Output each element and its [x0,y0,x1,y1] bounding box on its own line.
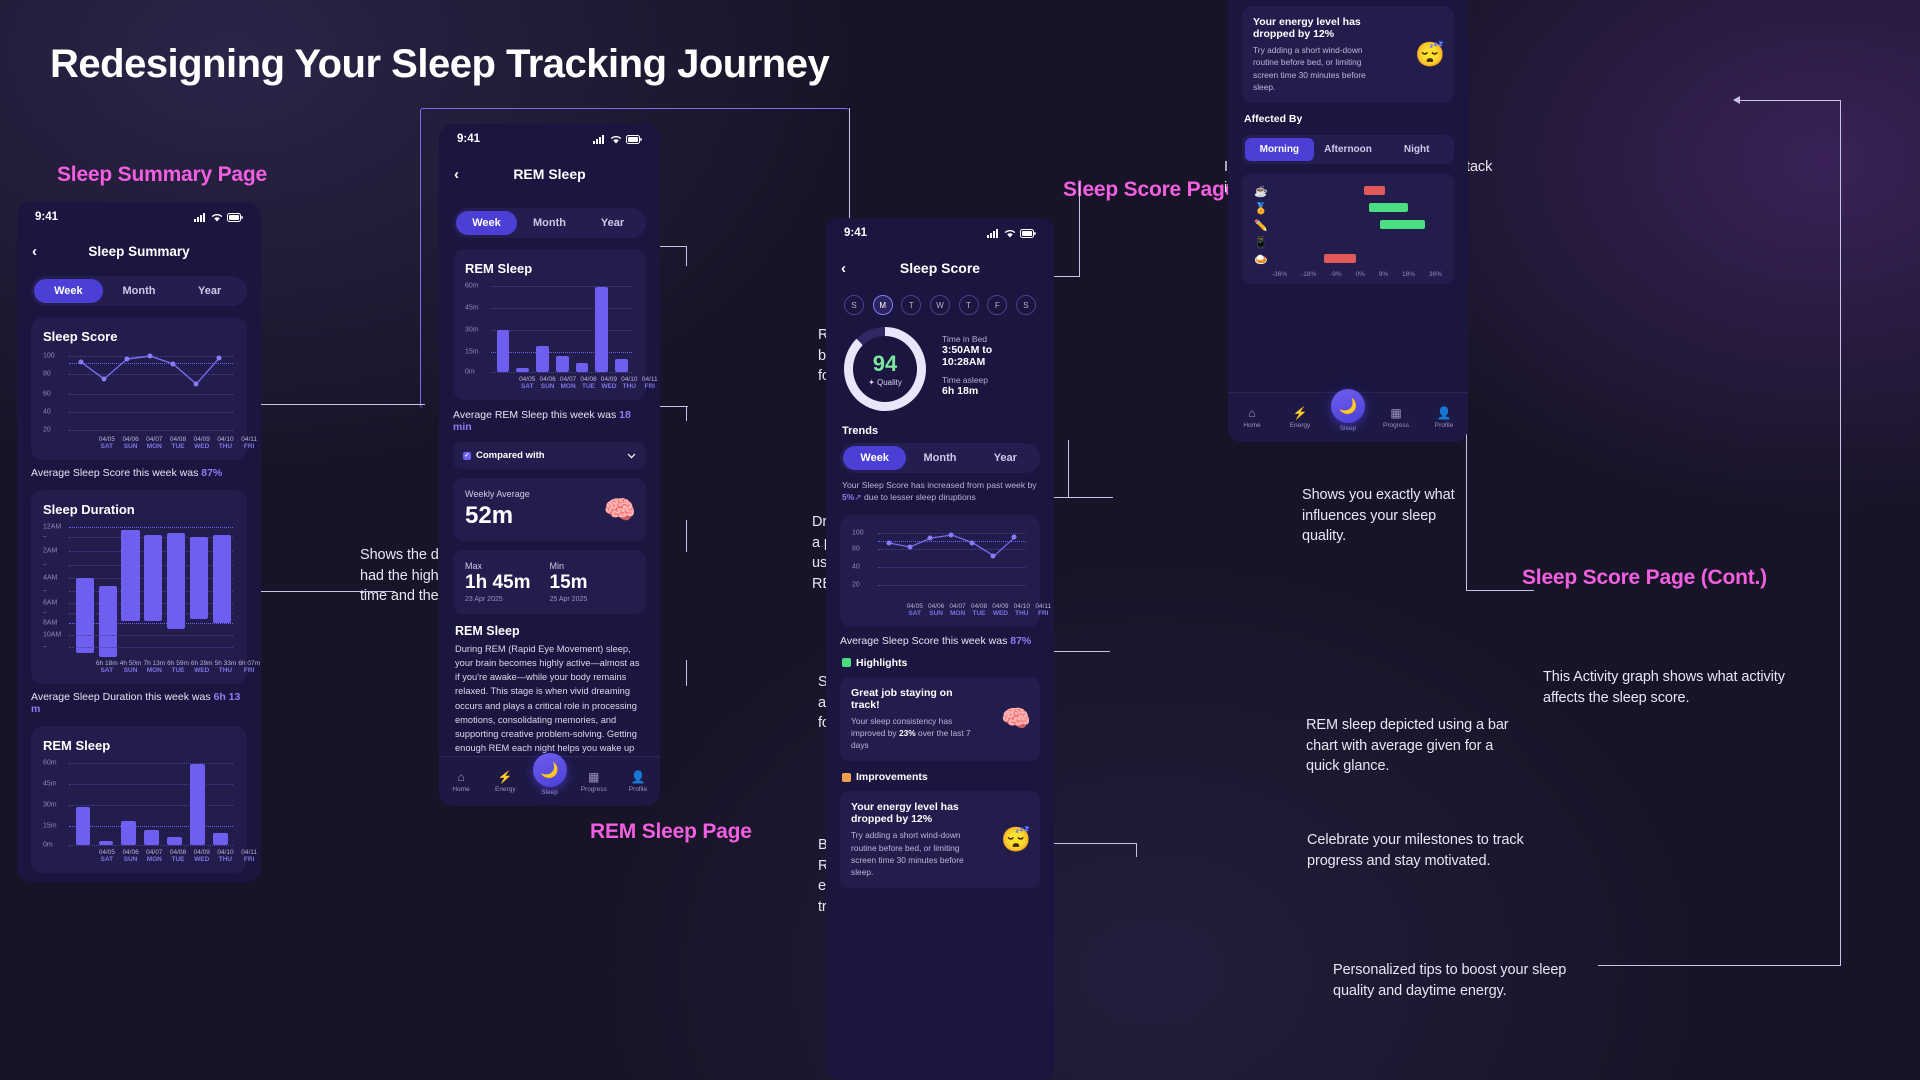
score-summary-row: 94 ✦ Quality Time in Bed 3:50AM to 10:28… [826,315,1054,415]
average-rem-sleep-text: Average REM Sleep this week was 18 min [17,873,261,882]
tab-month[interactable]: Month [519,211,580,235]
phone-sleep-score: 9:41 ‹ Sleep Score S M T W T F S 94 ✦ [826,218,1054,1080]
annotation-rem-bar-avg: REM sleep depicted using a bar chart wit… [1306,715,1521,777]
tab-profile[interactable]: 👤Profile [1420,406,1468,429]
connector-line [686,406,687,421]
time-in-bed-value: 3:50AM to 10:28AM [942,344,1036,368]
trends-segmented-control[interactable]: Week Month Year [840,443,1040,473]
annotation-personalized-tips: Personalized tips to boost your sleep qu… [1333,960,1593,1001]
weekday-selector[interactable]: S M T W T F S [826,288,1054,315]
highlight-title: Great job staying on track! [851,687,979,711]
min-date: 25 Apr 2025 [550,596,635,603]
card-improvement: Your energy level has dropped by 12% Try… [1242,6,1454,103]
rem-description-title: REM Sleep [455,624,644,638]
status-icons [987,229,1036,238]
coffee-icon: ☕ [1250,185,1272,198]
connector-line [1466,590,1534,591]
min-value: 15m [550,572,635,594]
x-axis-labels: 04/05SAT 04/06SUN 04/07MON 04/08TUE 04/0… [95,436,261,450]
phone-sleep-score-cont: the last 7 days Improvements Your energy… [1228,0,1468,442]
day-dot-t1[interactable]: T [901,295,921,315]
improvement-text: Try adding a short wind-down routine bef… [1253,44,1386,93]
chart-icon: ▦ [1372,406,1420,420]
wifi-icon [610,135,622,144]
connector-line [1079,183,1080,276]
tab-sleep[interactable]: 🌙 Sleep [527,767,571,796]
tab-energy[interactable]: ⚡Energy [483,770,527,793]
chart-score-trend-line: 100 80 40 20 [852,527,1028,601]
card-rem-sleep: REM Sleep 60m 45m 30m 15m 0m 04/05SA [31,726,247,873]
tab-morning[interactable]: Morning [1245,138,1314,161]
label-sleep-score-page-cont: Sleep Score Page (Cont.) [1522,566,1767,590]
connector-line [686,520,687,552]
activity-row: 📱 [1250,234,1446,251]
highlights-header: Highlights [826,647,1054,671]
card-title: Sleep Duration [43,502,235,517]
improvement-title: Your energy level has dropped by 12% [1253,16,1390,40]
highlights-icon [842,658,851,667]
status-bar: 9:41 [439,124,660,154]
card-weekly-average: Weekly Average 52m 🧠 [453,478,646,541]
connector-arrow [1733,96,1740,104]
card-title: REM Sleep [465,261,634,276]
score-ring: 94 ✦ Quality [844,327,926,411]
chart-activity-impact: ☕ 🏅 ✏️ 📱 🍛 -36%-18%-9%0%9%18%36% [1242,173,1454,284]
connector-line [1136,843,1137,857]
card-improvement: Your energy level has dropped by 12% Try… [840,791,1040,888]
bolt-icon: ⚡ [483,770,527,784]
poster-canvas: Redesigning Your Sleep Tracking Journey … [0,0,1920,1080]
affected-by-header: Affected By [1228,103,1468,127]
nav-bar: ‹ REM Sleep [439,154,660,194]
card-title: REM Sleep [43,738,235,753]
activity-row: 🍛 [1250,251,1446,268]
phone-icon: 📱 [1250,236,1272,249]
time-asleep-label: Time asleep [942,375,1036,385]
average-sleep-duration-text: Average Sleep Duration this week was 6h … [17,684,261,715]
card-max-min: Max 1h 45m 23 Apr 2025 Min 15m 25 Apr 20… [453,550,646,614]
tab-month[interactable]: Month [105,279,174,303]
signal-icon [593,135,606,144]
moon-icon[interactable]: 🌙 [533,753,567,787]
label-sleep-score-page: Sleep Score Page [1063,178,1236,202]
bottom-tab-bar[interactable]: ⌂Home ⚡Energy 🌙 Sleep ▦Progress 👤Profile [439,756,660,806]
signal-icon [194,213,207,222]
person-icon: 👤 [1420,406,1468,420]
tab-year[interactable]: Year [582,211,643,235]
score-quality-label: ✦ Quality [868,378,902,387]
card-trend-chart: 100 80 40 20 04 [840,515,1040,627]
brain-emoji: 🧠 [604,494,636,525]
tab-week[interactable]: Week [34,279,103,303]
chart-sleep-duration-bars: 12AM – 2AM – 4AM – 6AM – 8AM [43,523,235,631]
bottom-tab-bar[interactable]: ⌂Home ⚡Energy 🌙 Sleep ▦Progress 👤Profile [1228,392,1468,442]
time-asleep-value: 6h 18m [942,385,1036,397]
improvements-icon [842,773,851,782]
x-axis-labels: 04/05SAT 04/06SUN 04/07MON 04/08TUE 04/0… [517,376,660,390]
average-sleep-score-text: Average Sleep Score this week was 87% [826,627,1054,647]
chart-rem-sleep-bars: 60m 45m 30m 15m 0m [465,282,634,374]
bar-plot-area [69,523,233,631]
card-sleep-score: Sleep Score 100 80 60 40 20 [31,317,247,460]
home-icon: ⌂ [1228,406,1276,420]
status-icons [194,213,243,222]
x-axis-labels: 6h 18mSAT 4h 50mSUN 7h 13mMON 6h 59mTUE … [95,660,261,674]
checkbox-checked-icon[interactable]: ✓ [463,452,471,460]
sleepy-emoji: 😴 [1001,825,1031,854]
annotation-activity-graph: This Activity graph shows what activity … [1543,667,1793,708]
battery-icon [626,135,642,144]
improvement-text: Try adding a short wind-down routine bef… [851,829,976,878]
back-button[interactable]: ‹ [32,243,37,260]
tab-profile[interactable]: 👤Profile [616,770,660,793]
party-brain-emoji: 🧠 [1001,705,1031,734]
compared-with-dropdown[interactable]: ✓ Compared with [453,442,646,469]
activity-x-axis: -36%-18%-9%0%9%18%36% [1250,268,1446,278]
status-time: 9:41 [35,211,58,223]
chart-icon: ▦ [572,770,616,784]
connector-line [260,404,425,405]
activity-row: ☕ [1250,183,1446,200]
tab-week[interactable]: Week [456,211,517,235]
status-time: 9:41 [457,133,480,145]
day-dot-t2[interactable]: T [959,295,979,315]
label-sleep-summary-page: Sleep Summary Page [57,163,267,187]
tab-home[interactable]: ⌂Home [1228,406,1276,429]
back-button[interactable]: ‹ [454,166,459,183]
tab-afternoon[interactable]: Afternoon [1314,138,1383,161]
wifi-icon [211,213,223,222]
tab-home[interactable]: ⌂Home [439,770,483,793]
label-rem-sleep-page: REM Sleep Page [590,820,752,844]
battery-icon [1020,229,1036,238]
day-dot-w[interactable]: W [930,295,950,315]
connector-line [1840,100,1841,965]
period-segmented-control[interactable]: Week Month Year [453,208,646,238]
battery-icon [227,213,243,222]
x-axis-labels: 04/05SAT 04/06SUN 04/07MON 04/08TUE 04/0… [95,849,261,863]
improvements-label: Improvements [856,771,928,783]
nav-title: Sleep Score [826,260,1054,276]
activity-row: 🏅 [1250,200,1446,217]
min-block: Min 15m 25 Apr 2025 [550,561,635,603]
average-rem-sleep-text: Average REM Sleep this week was 18 min [439,400,660,433]
time-metrics: Time in Bed 3:50AM to 10:28AM Time aslee… [942,334,1036,404]
score-value: 94 [873,351,897,377]
back-button[interactable]: ‹ [841,260,846,277]
nav-bar: ‹ Sleep Score [826,248,1054,288]
day-dot-s2[interactable]: S [1016,295,1036,315]
nav-bar: ‹ Sleep Summary [17,232,261,270]
line-plot-area [878,527,1026,601]
trend-tab-year[interactable]: Year [974,446,1037,470]
max-date: 23 Apr 2025 [465,596,550,603]
tab-night[interactable]: Night [1382,138,1451,161]
time-in-bed-label: Time in Bed [942,334,1036,344]
wifi-icon [1004,229,1016,238]
affected-by-label: Affected By [1244,113,1302,125]
card-rem-sleep-chart: REM Sleep 60m 45m 30m 15m 0m 04/05SA [453,249,646,400]
tab-energy[interactable]: ⚡Energy [1276,406,1324,429]
max-block: Max 1h 45m 23 Apr 2025 [465,561,550,603]
connector-line [1068,440,1069,497]
min-label: Min [550,561,635,571]
day-dot-m[interactable]: M [873,295,893,315]
status-bar: 9:41 [17,202,261,232]
improvements-header: Improvements [826,761,1054,785]
improvement-title: Your energy level has dropped by 12% [851,801,979,825]
card-title: Sleep Score [43,329,235,344]
connector-line [686,660,687,686]
day-dot-s1[interactable]: S [844,295,864,315]
chart-sleep-score-line: 100 80 60 40 20 [43,350,235,436]
period-segmented-control[interactable]: Week Month Year [31,276,247,306]
line-plot-area [69,350,233,436]
activity-row: ✏️ [1250,217,1446,234]
day-dot-f[interactable]: F [987,295,1007,315]
status-bar: 9:41 [826,218,1054,248]
chart-rem-sleep-bars: 60m 45m 30m 15m 0m [43,759,235,847]
tab-sleep[interactable]: 🌙 Sleep [1324,403,1372,432]
trends-title: Trends [826,415,1054,441]
x-axis-labels: 04/05SAT 04/06SUN 04/07MON 04/08TUE 04/0… [904,603,1054,617]
pencil-icon: ✏️ [1250,219,1272,232]
home-icon: ⌂ [439,770,483,784]
tab-progress[interactable]: ▦Progress [1372,406,1420,429]
bar-plot-area [69,759,233,847]
meal-icon: 🍛 [1250,253,1272,266]
dropdown-label: Compared with [476,450,545,461]
bolt-icon: ⚡ [1276,406,1324,420]
trend-description: Your Sleep Score has increased from past… [826,473,1054,504]
page-title: Redesigning Your Sleep Tracking Journey [50,42,829,87]
annotation-milestones: Celebrate your milestones to track progr… [1307,830,1557,871]
affected-by-segmented-control[interactable]: Morning Afternoon Night [1242,135,1454,164]
status-icons [593,135,642,144]
tab-progress[interactable]: ▦Progress [572,770,616,793]
sleepy-emoji: 😴 [1415,40,1445,69]
person-icon: 👤 [616,770,660,784]
card-highlight: Great job staying on track! Your sleep c… [840,677,1040,762]
chevron-down-icon[interactable] [627,453,636,459]
phone-sleep-summary: 9:41 ‹ Sleep Summary Week Month Year Sle… [17,202,261,882]
trend-tab-week[interactable]: Week [843,446,906,470]
max-value: 1h 45m [465,572,550,594]
connector-line [686,246,687,266]
card-sleep-duration: Sleep Duration 12AM – 2AM – 4AM – 6AM – … [31,490,247,684]
average-sleep-score-text: Average Sleep Score this week was 87% [17,460,261,479]
moon-icon[interactable]: 🌙 [1331,389,1365,423]
trend-tab-month[interactable]: Month [908,446,971,470]
tab-year[interactable]: Year [175,279,244,303]
highlight-text: Your sleep consistency has improved by 2… [851,715,976,752]
bar-plot-area [491,282,632,374]
connector-line [1053,497,1113,498]
annotation-influences: Shows you exactly what influences your s… [1302,485,1477,547]
connector-line [1598,965,1841,966]
connector-line [1738,100,1841,101]
nav-title: Sleep Summary [17,244,261,259]
phone-rem-sleep: 9:41 ‹ REM Sleep Week Month Year REM Sle… [439,124,660,806]
status-time: 9:41 [844,227,867,239]
max-label: Max [465,561,550,571]
highlights-label: Highlights [856,657,907,669]
medal-icon: 🏅 [1250,202,1272,215]
nav-title: REM Sleep [439,166,660,182]
signal-icon [987,229,1000,238]
